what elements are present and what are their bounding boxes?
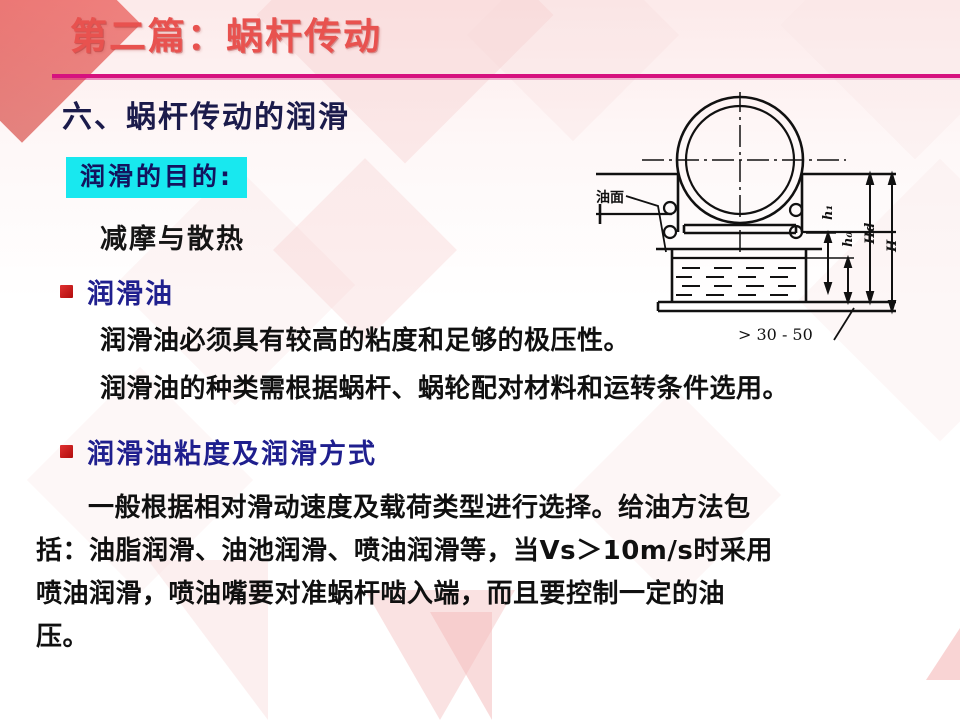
diagram-svg: 油面 h₁ h₀ Hd H > 30 - 50: [596, 92, 960, 344]
dimension-line-h1: [825, 233, 831, 292]
dimension-label-hd: Hd: [863, 223, 878, 245]
dimension-label-h0: h₀: [841, 232, 856, 247]
bullet-item-viscosity-and-method: 润滑油粘度及润滑方式: [60, 432, 377, 471]
bullet-item-lubricating-oil: 润滑油: [60, 272, 174, 311]
oil-hatching: [676, 268, 796, 295]
slide-canvas: 第二篇：蜗杆传动 六、蜗杆传动的润滑 润滑的目的: 减摩与散热 润滑油 润滑油必…: [0, 0, 960, 720]
bearing-boss-left-lower: [664, 226, 676, 238]
clearance-note: > 30 - 50: [738, 325, 813, 344]
bearing-boss-left-upper: [664, 202, 676, 214]
dimension-label-h: H: [885, 239, 900, 253]
worm-gearbox-oil-level-diagram: 油面 h₁ h₀ Hd H > 30 - 50: [596, 92, 960, 344]
section-heading: 六、蜗杆传动的润滑: [62, 92, 350, 136]
bullet-label: 润滑油: [87, 272, 174, 311]
paragraph-line: 润滑油必须具有较高的粘度和足够的极压性。: [100, 320, 630, 357]
paragraph-line: 润滑油的种类需根据蜗杆、蜗轮配对材料和运转条件选用。: [100, 368, 789, 405]
oil-surface-leader: [626, 196, 666, 252]
purpose-text: 减摩与散热: [100, 217, 245, 256]
bullet-label: 润滑油粘度及润滑方式: [87, 432, 377, 471]
paragraph-line: 喷油润滑，喷油嘴要对准蜗杆啮入端，而且要控制一定的油: [36, 573, 725, 610]
bearing-boss-right-upper: [790, 204, 802, 216]
clearance-note-leader: [834, 308, 854, 340]
paragraph-line: 一般根据相对滑动速度及载荷类型进行选择。给油方法包: [88, 487, 751, 524]
square-bullet-icon: [60, 285, 73, 298]
oil-surface-label: 油面: [596, 189, 624, 206]
dimension-label-h1: h₁: [821, 205, 836, 220]
square-bullet-icon: [60, 445, 73, 458]
paragraph-line: 括：油脂润滑、油池润滑、喷油润滑等，当Vs＞10m/s时采用: [36, 530, 773, 567]
lubrication-purpose-highlight: 润滑的目的:: [66, 157, 247, 198]
dimension-line-h0: [845, 258, 851, 302]
paragraph-line: 压。: [36, 616, 89, 653]
